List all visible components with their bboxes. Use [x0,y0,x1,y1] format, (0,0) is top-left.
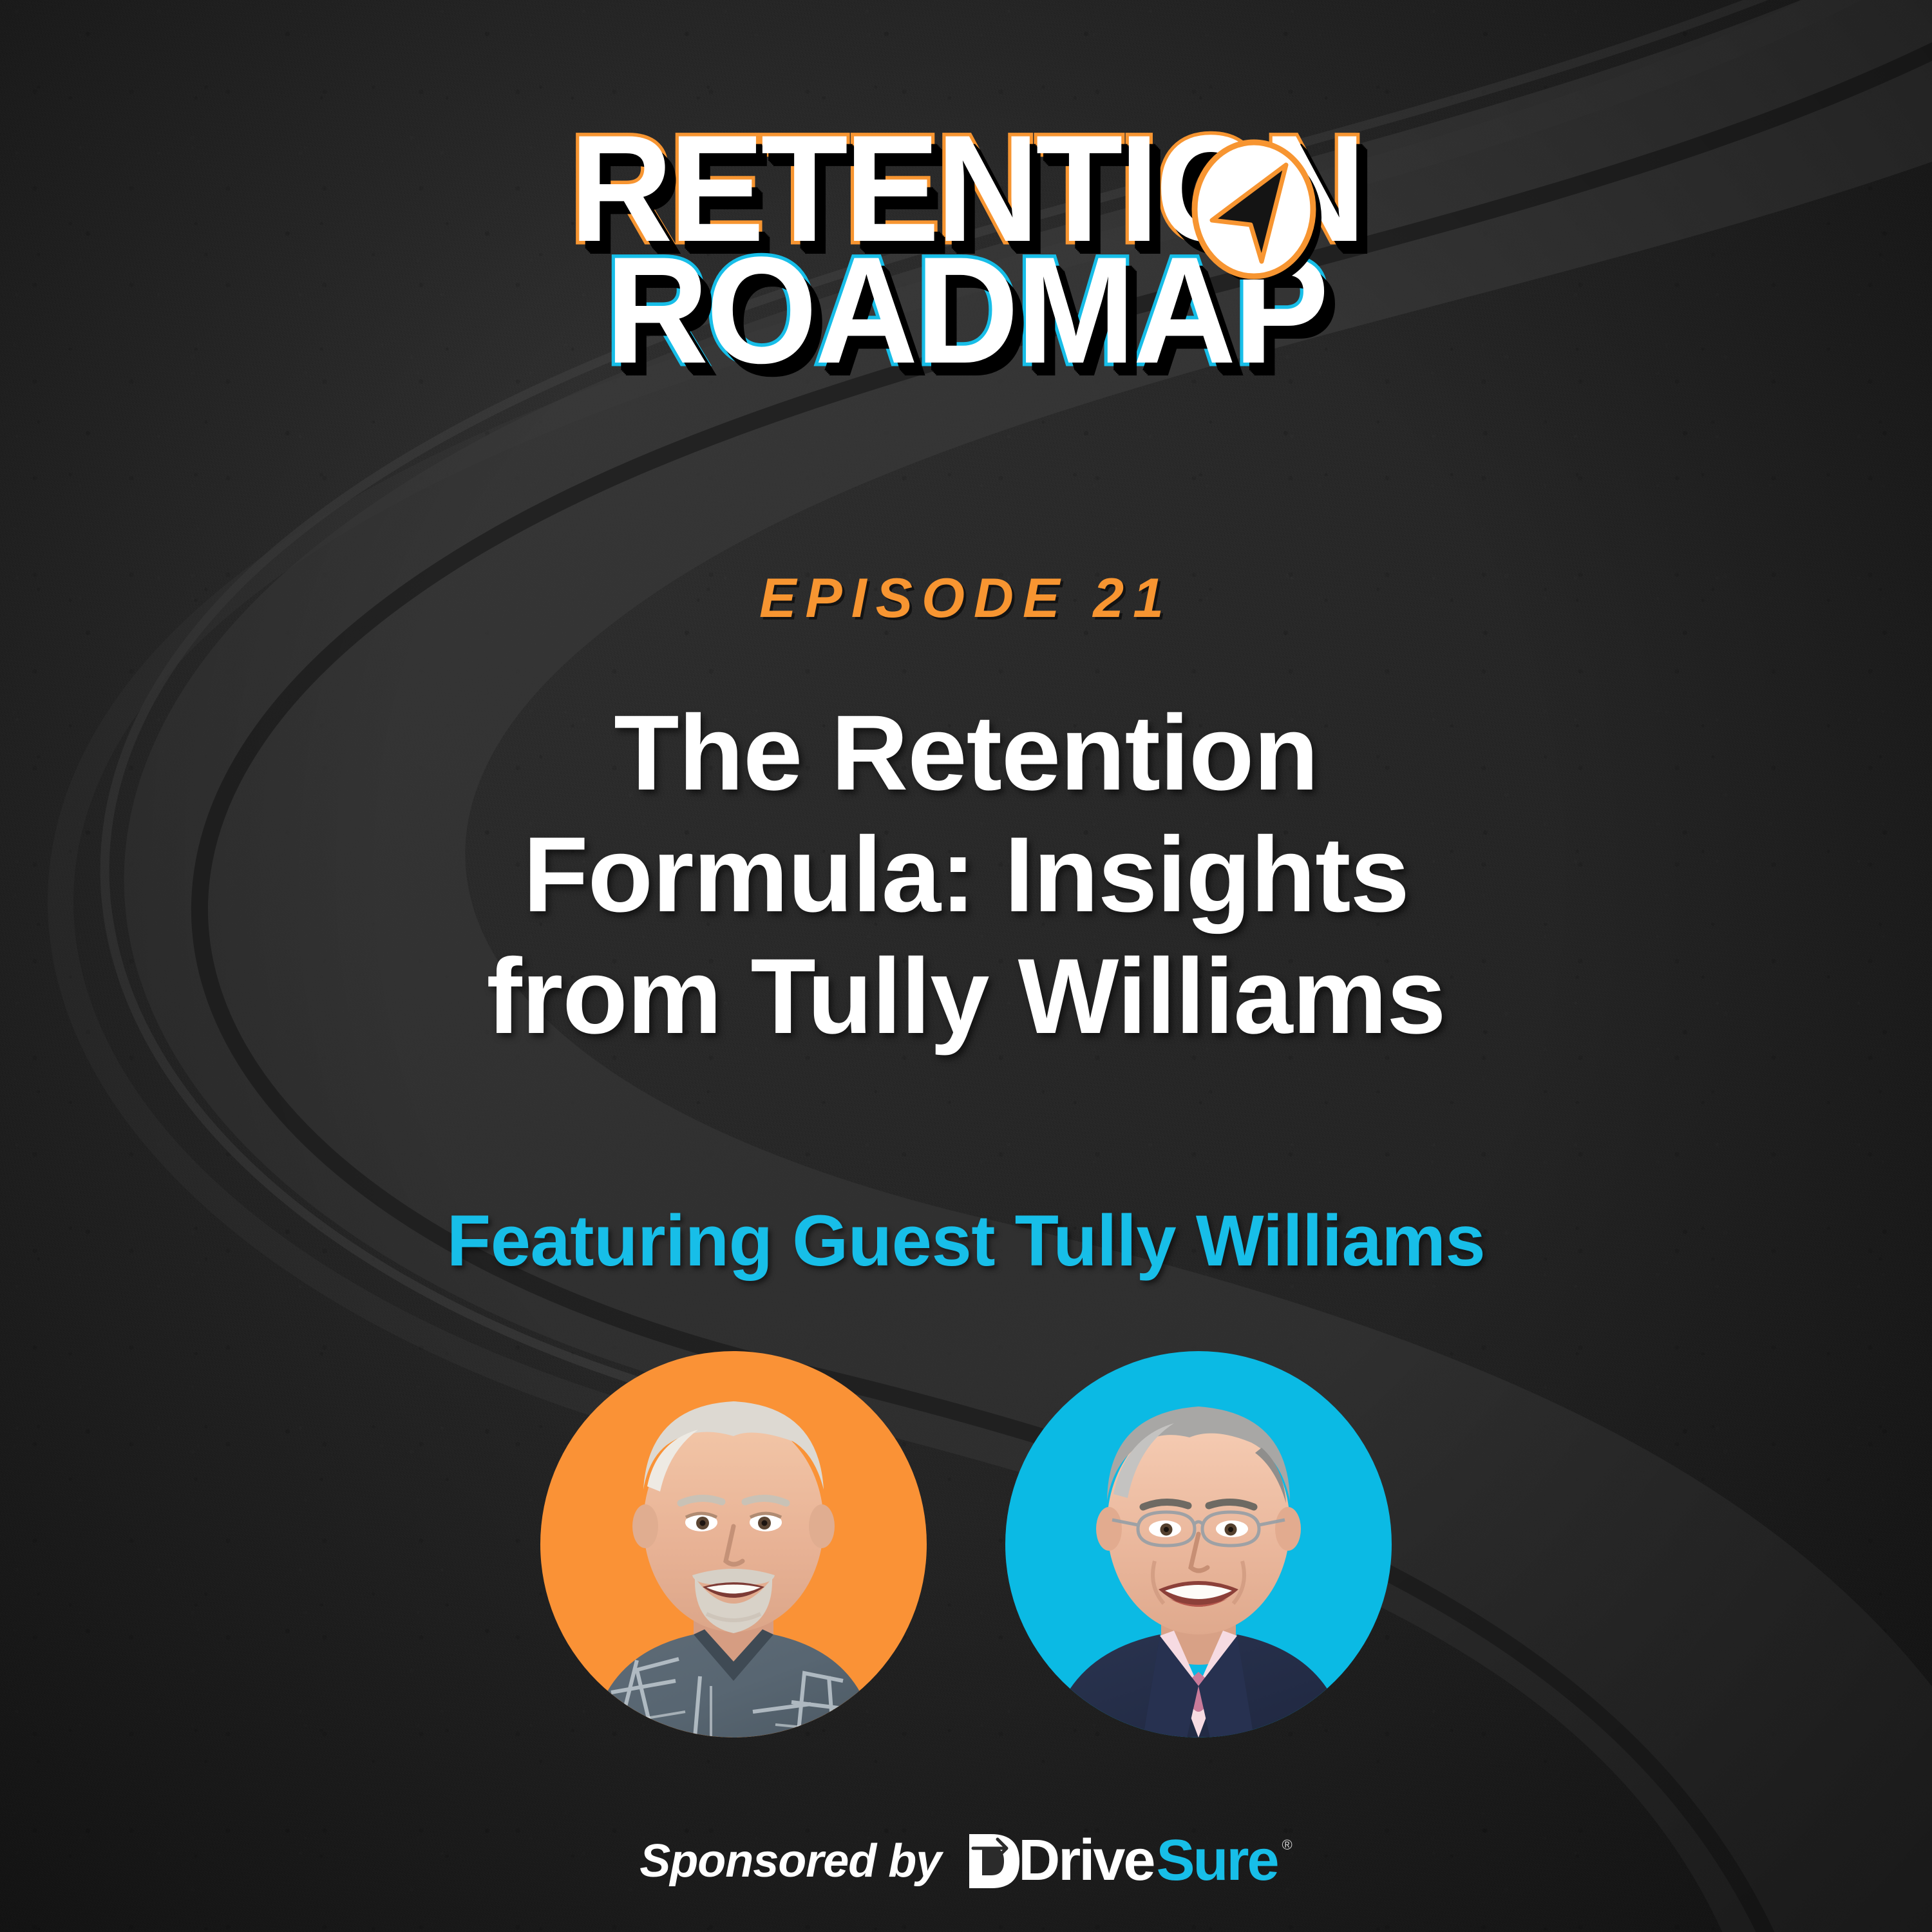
title-line-1: The Retention [167,692,1765,814]
featuring-guest-label: Featuring Guest Tully Williams [0,1199,1932,1282]
sponsor-row: Sponsored by Drive Sure ® [0,1828,1932,1894]
logo-word-roadmap: ROADMAP [58,241,1874,381]
registered-trademark-mark: ® [1282,1837,1293,1853]
podcast-cover-art: RETENTION ROADMAP EPISODE 21 The Retenti… [0,0,1932,1932]
headshots-row [0,1351,1932,1738]
episode-title: The Retention Formula: Insights from Tul… [167,692,1765,1058]
title-line-3: from Tully Williams [167,936,1765,1057]
drivesure-word-sure: Sure [1156,1828,1277,1894]
drivesure-d-arrow-icon [964,1829,1023,1893]
navigation-arrow-icon [1184,139,1324,279]
guest-headshot [1005,1351,1392,1738]
drivesure-logo[interactable]: Drive Sure ® [964,1828,1292,1894]
drivesure-word-drive: Drive [1018,1828,1153,1894]
episode-label: EPISODE 21 [0,567,1932,630]
sponsored-by-label: Sponsored by [639,1835,941,1888]
show-logo: RETENTION ROADMAP [0,119,1932,381]
host-headshot [540,1351,927,1738]
title-line-2: Formula: Insights [167,814,1765,936]
